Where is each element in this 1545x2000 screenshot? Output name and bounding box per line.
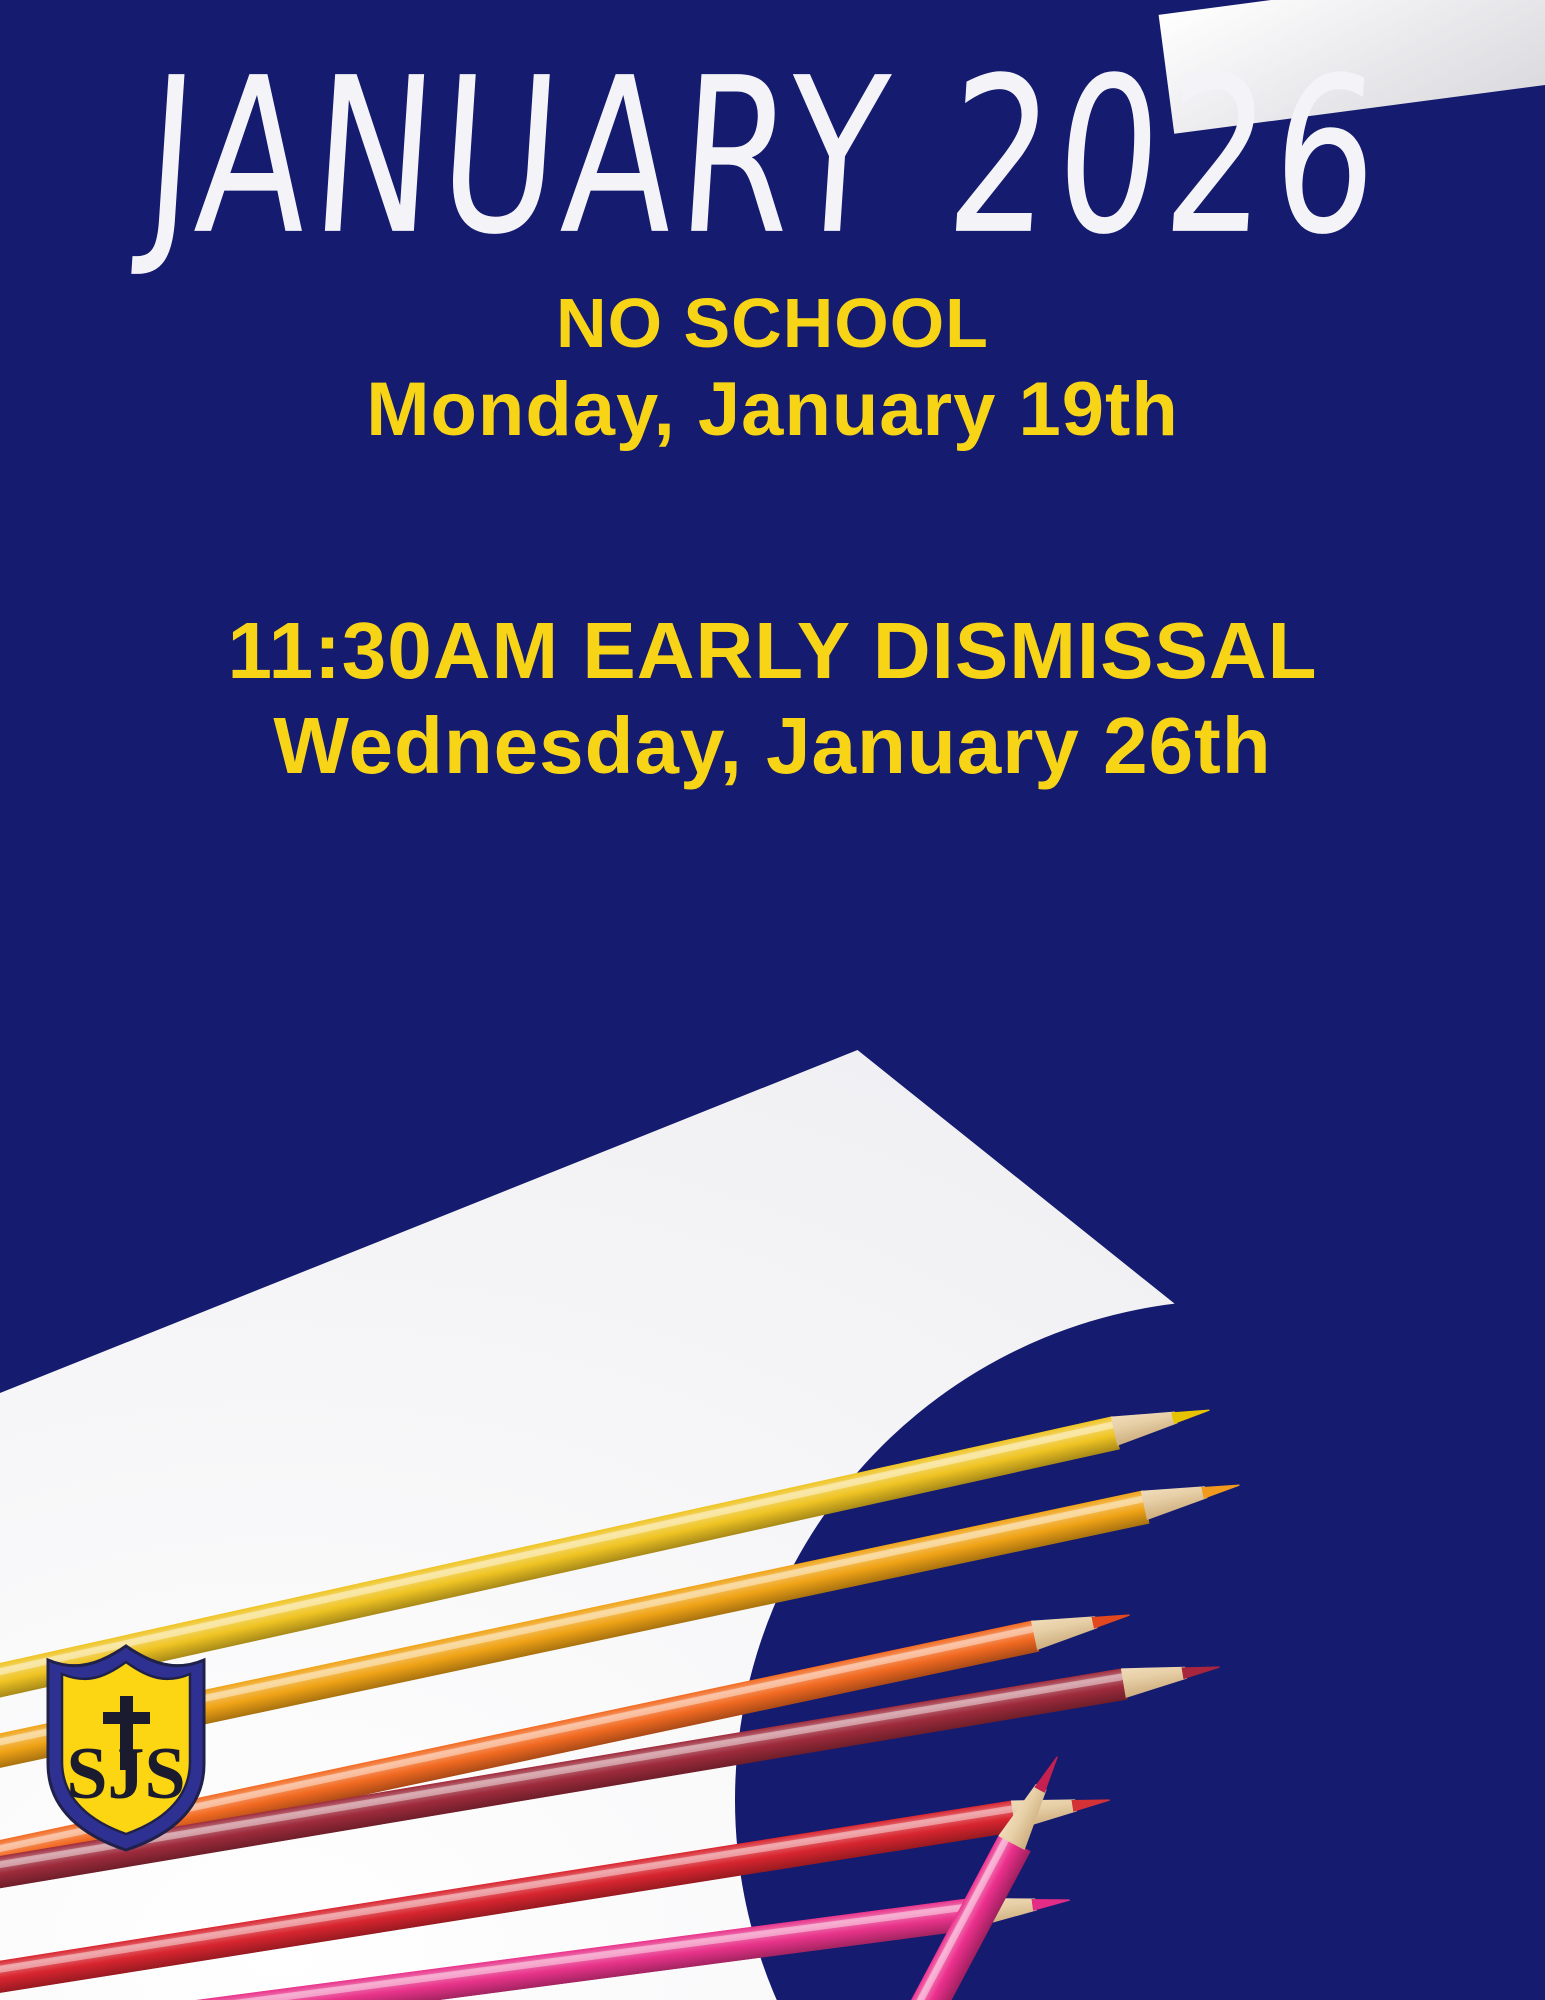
announcement-headline: NO SCHOOL — [0, 282, 1545, 365]
colored-pencils-photo — [0, 1040, 1545, 2000]
sjs-shield-logo: SJS — [42, 1638, 210, 1856]
shield-letters: SJS — [66, 1733, 185, 1815]
cross-horizontal-icon — [103, 1712, 150, 1724]
pencil-tip — [1090, 1600, 1133, 1637]
pencil-tip — [1180, 1652, 1222, 1688]
announcement-detail: Monday, January 19th — [0, 365, 1545, 455]
announcement-headline: 11:30AM EARLY DISMISSAL — [0, 604, 1545, 698]
pencil-tip — [1070, 1785, 1112, 1821]
navy-band-right — [1375, 1040, 1545, 2000]
announcement-early-dismissal: 11:30AM EARLY DISMISSAL Wednesday, Janua… — [0, 604, 1545, 793]
school-announcement-flyer: JANUARY 2026 NO SCHOOL Monday, January 1… — [0, 0, 1545, 2000]
pencil-tip — [1169, 1395, 1213, 1433]
announcement-detail: Wednesday, January 26th — [0, 699, 1545, 793]
announcement-spacer — [0, 454, 1545, 604]
pencil-tip — [1030, 1885, 1072, 1920]
flyer-header: JANUARY 2026 — [0, 44, 1545, 220]
page-title: JANUARY 2026 — [130, 44, 1399, 270]
announcements-block: NO SCHOOL Monday, January 19th 11:30AM E… — [0, 282, 1545, 793]
announcement-no-school: NO SCHOOL Monday, January 19th — [0, 282, 1545, 454]
pencil-tip — [1199, 1470, 1242, 1507]
